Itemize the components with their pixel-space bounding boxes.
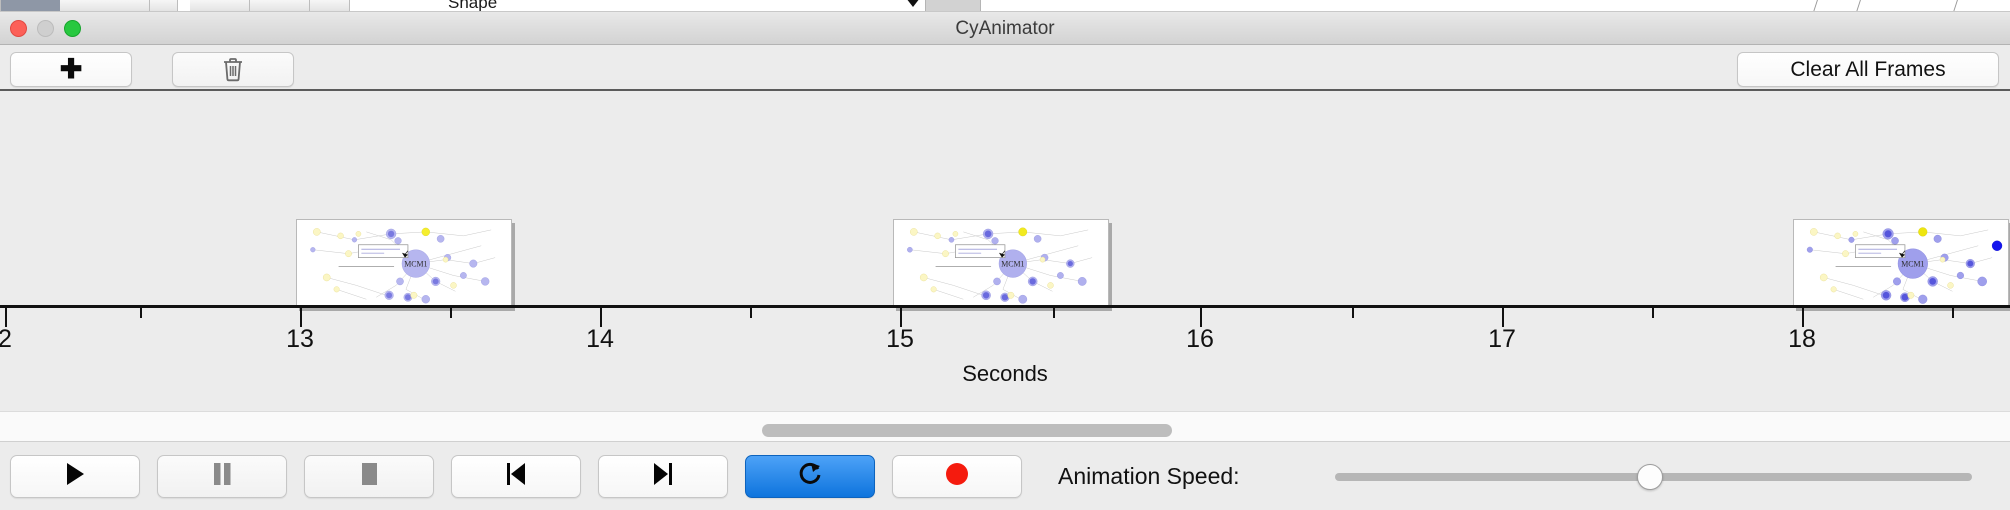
svg-text:MCM1: MCM1 [404,260,427,269]
axis-tick-minor [140,308,142,318]
record-button[interactable] [892,455,1022,498]
trash-icon [222,57,244,82]
window-titlebar: CyAnimator [0,12,2010,45]
axis-tick-label: 13 [286,325,314,354]
background-window-tab [190,0,250,12]
axis-title: Seconds [0,361,2010,387]
record-icon [944,461,970,492]
background-window-caret-icon [906,0,920,7]
skip-to-end-button[interactable] [598,455,728,498]
axis-tick-minor [1352,308,1354,318]
skip-to-start-button[interactable] [451,455,581,498]
network-graph-image: MCM1 [297,220,511,307]
axis-tick-minor [1952,308,1954,318]
background-window-tab [60,0,150,12]
window-title: CyAnimator [0,12,2010,45]
axis-tick-minor [750,308,752,318]
pause-button[interactable] [157,455,287,498]
axis-tick-minor [450,308,452,318]
clear-all-frames-button[interactable]: Clear All Frames [1737,52,1999,87]
network-graph-image: MCM1 [1794,220,2008,307]
axis-tick-label: 18 [1788,325,1816,354]
skip-forward-icon [651,461,675,492]
clear-all-frames-label: Clear All Frames [1790,58,1945,82]
network-graph-image: MCM1 [894,220,1108,307]
add-frame-button[interactable]: ✚ [10,52,132,87]
skip-back-icon [504,461,528,492]
animation-speed-slider-thumb[interactable] [1637,464,1663,490]
stop-icon [358,461,380,492]
timeline-panel[interactable]: MCM1 [0,93,2010,411]
axis-tick-label: 15 [886,325,914,354]
delete-frame-button[interactable] [172,52,294,87]
background-window-strip: Shape [0,0,2010,12]
animation-speed-label: Animation Speed: [1058,455,1240,498]
svg-text:MCM1: MCM1 [1901,260,1924,269]
play-button[interactable] [10,455,140,498]
pause-icon [211,461,233,492]
loop-button[interactable] [745,455,875,498]
axis-tick-minor [1053,308,1055,318]
keyframe-thumbnail-2[interactable]: MCM1 [893,219,1109,307]
playback-control-bar: Animation Speed: [0,443,2010,510]
plus-icon: ✚ [60,56,83,83]
background-window-divider [1856,0,1861,12]
axis-tick-label: 14 [586,325,614,354]
axis-tick-label: 17 [1488,325,1516,354]
background-window-field [925,0,981,12]
keyframe-thumbnail-1[interactable]: MCM1 [296,219,512,307]
background-window-divider [1813,0,1818,12]
axis-tick-minor [1652,308,1654,318]
axis-tick-label: 2 [0,325,12,354]
background-window-divider [1953,0,1958,12]
keyframe-thumbnail-3[interactable]: MCM1 [1793,219,2009,307]
horizontal-scrollbar-thumb[interactable] [762,424,1172,437]
stop-button[interactable] [304,455,434,498]
background-window-tab [150,0,178,12]
axis-tick-label: 16 [1186,325,1214,354]
toolbar: ✚ Clear All Frames [0,45,2010,91]
svg-text:MCM1: MCM1 [1001,260,1024,269]
loop-icon [797,460,823,493]
background-window-tab [250,0,310,12]
background-window-sidebar [0,0,60,12]
background-window-tab [310,0,350,12]
play-icon [64,461,86,492]
background-window-tab-label: Shape [448,0,497,12]
background-window-tab [0,0,1,12]
